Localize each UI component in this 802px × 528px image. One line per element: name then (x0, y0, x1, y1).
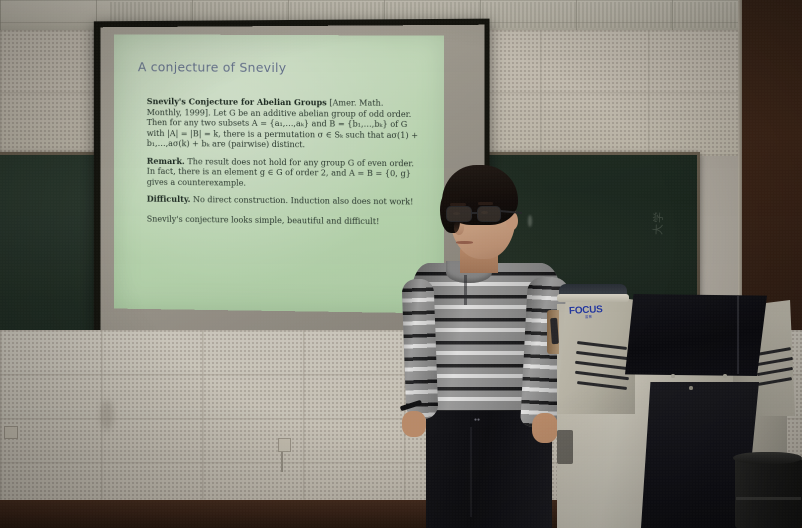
outlet-cord (281, 452, 283, 472)
slide-title: A conjecture of Snevily (138, 59, 287, 75)
eyeglass-lens-left (446, 206, 472, 222)
presenter-brow-right (478, 202, 493, 205)
projector-rim (557, 294, 629, 302)
podium-monitor[interactable] (625, 294, 767, 376)
left-sleeve-shading (402, 278, 439, 419)
podium-screw-left (671, 374, 675, 378)
difficulty-heading: Difficulty. (147, 194, 191, 204)
podium-screw-right (723, 374, 727, 378)
presenter-nose (454, 221, 464, 235)
slide-paragraph-conjecture: Snevily's Conjecture for Abelian Groups … (147, 96, 419, 151)
presenter-left-hand (402, 411, 426, 437)
trash-bin-band (736, 497, 801, 500)
difficulty-body: No direct construction. Induction also d… (193, 194, 413, 206)
slide-paragraph-difficulty: Difficulty. No direct construction. Indu… (147, 194, 419, 207)
focus-brand-sub: 富景 (585, 315, 592, 320)
eyeglasses-icon (444, 206, 518, 223)
podium-side-slot (557, 430, 573, 464)
eyeglass-lens-right (477, 206, 501, 222)
slide-paragraph-closing: Snevily's conjecture looks simple, beaut… (147, 213, 419, 227)
podium-vents-left (575, 344, 633, 390)
remark-heading: Remark. (147, 155, 185, 165)
slide-body: Snevily's Conjecture for Abelian Groups … (147, 96, 419, 234)
wall-outlet-left (4, 426, 18, 439)
presentation-slide: A conjecture of Snevily Snevily's Conjec… (114, 34, 444, 313)
trouser-logo: ●● (474, 417, 494, 425)
closing-body: Snevily's conjecture looks simple, beaut… (147, 213, 380, 226)
wall-outlet-mid (278, 438, 291, 452)
podium-monitor-seam (737, 296, 739, 374)
trash-bin-rim (733, 452, 802, 464)
remark-body: The result does not hold for any group G… (147, 156, 414, 187)
trash-bin (735, 455, 802, 528)
chalk-writing: 大学 (650, 211, 667, 236)
shirt-placket (464, 275, 467, 305)
presenter-mouth (456, 241, 473, 244)
presenter-left-arm (402, 278, 439, 419)
podium-vents-right (757, 350, 802, 394)
conjecture-heading: Snevily's Conjecture for Abelian Groups (147, 96, 327, 107)
podium-screw-center (689, 386, 693, 390)
wall-smudge (100, 400, 114, 430)
eyeglass-temple (500, 210, 522, 214)
eyeglass-bridge (472, 212, 477, 214)
slide-paragraph-remark: Remark. The result does not hold for any… (147, 155, 419, 189)
trouser-seam (470, 427, 472, 517)
lecture-photo-scene: 大学 A conjecture of Snevily Snevily's Con… (0, 0, 802, 528)
